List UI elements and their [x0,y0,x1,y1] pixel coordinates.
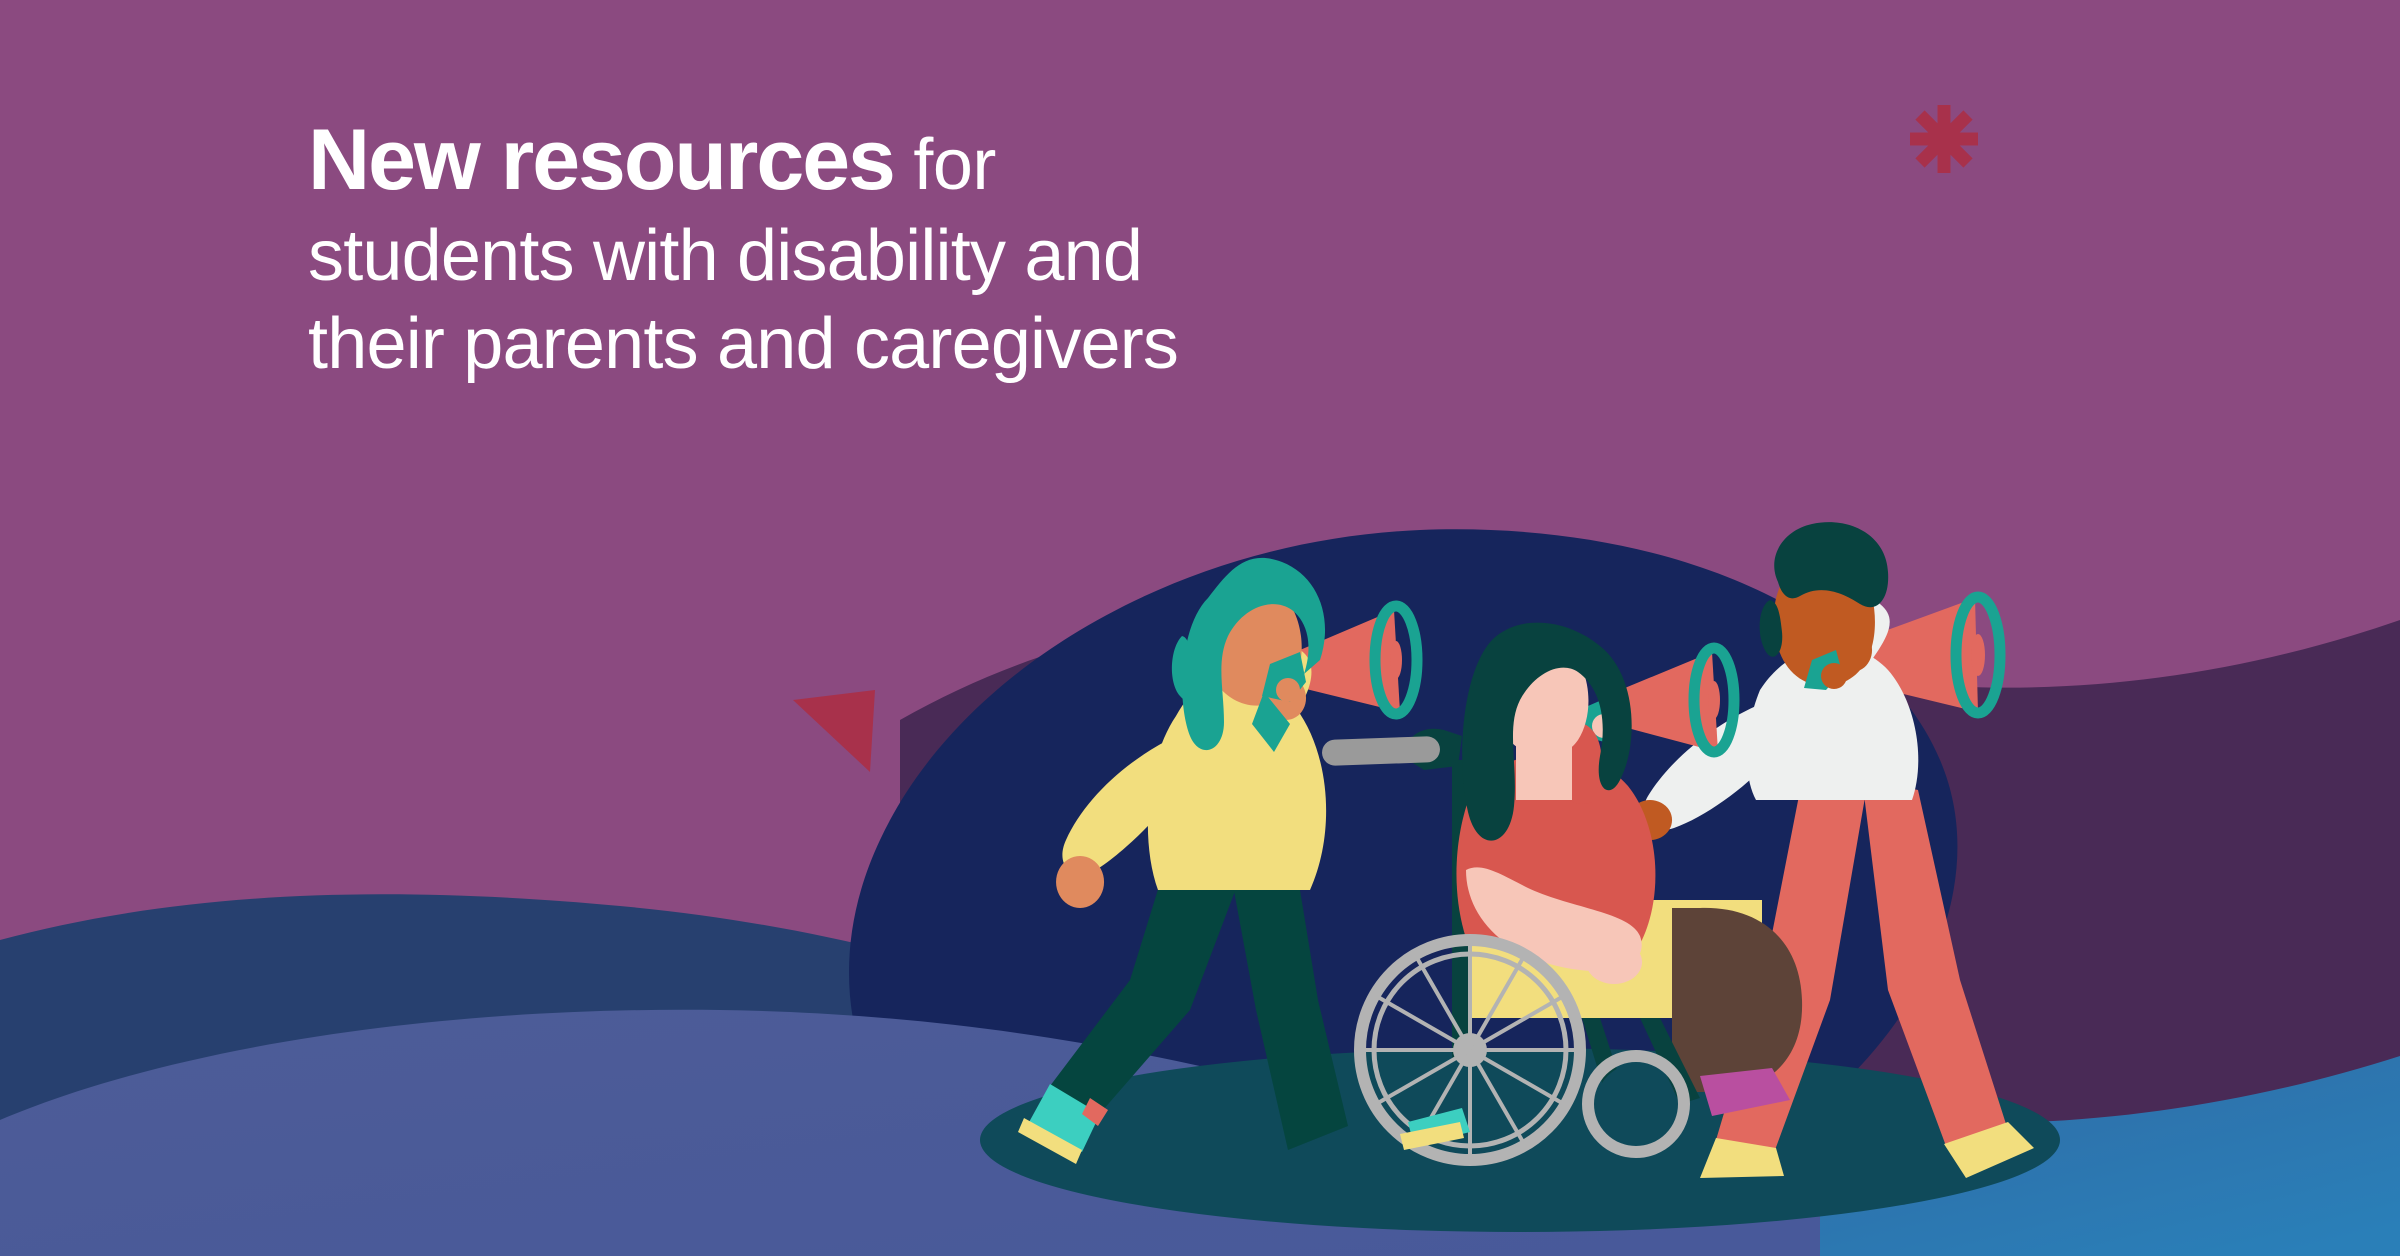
wheelchair-caster-wheel [1588,1056,1684,1152]
hero-banner: 0 [0,0,2400,1256]
headline-strong: New resources [308,112,894,208]
wheelchair-handle-grip [1322,736,1441,766]
hand-left-hanging [1056,856,1104,908]
headline-for: for [894,125,996,205]
headline-line-3: their parents and caregivers [308,301,1608,389]
headline-block: New resources for students with disabili… [308,108,1608,389]
asterisk-decoration [1910,105,1978,173]
headline-line-2: students with disability and [308,213,1608,301]
hand-middle-rest [1586,940,1642,984]
wheelchair-wheel-large [1360,940,1580,1160]
headline-line-1: New resources for [308,108,1608,213]
